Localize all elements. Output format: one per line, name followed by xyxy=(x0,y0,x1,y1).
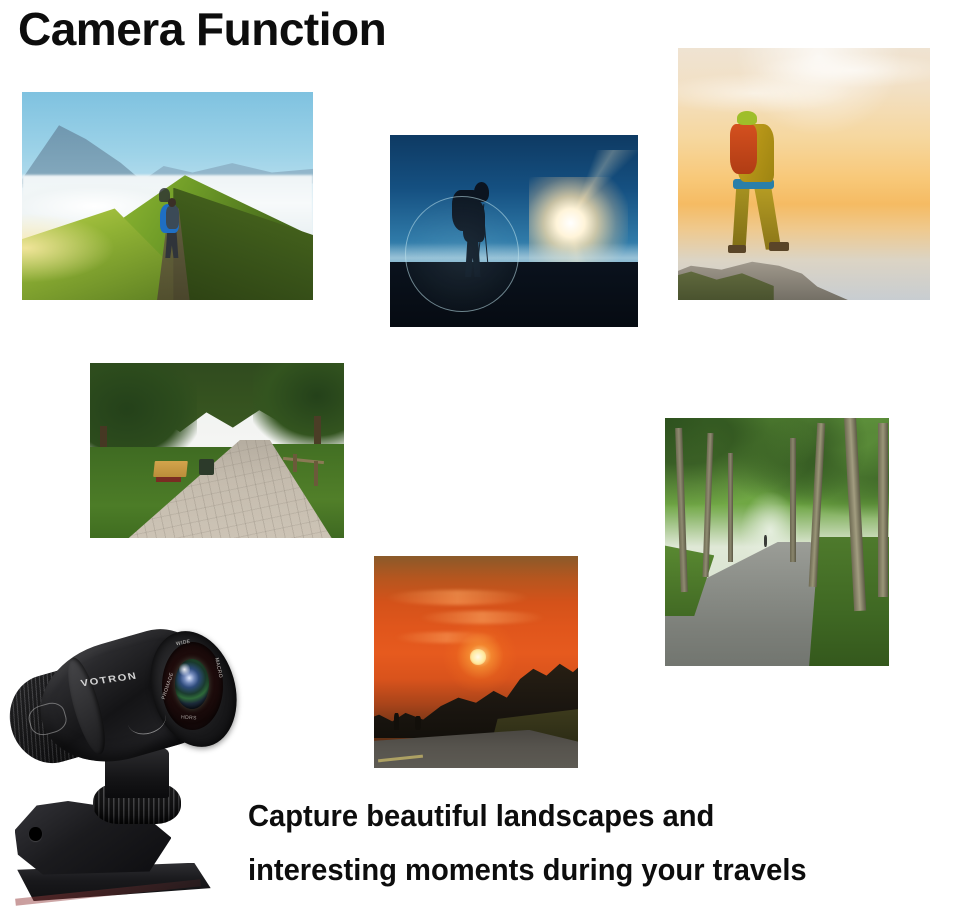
park-bench xyxy=(153,461,188,477)
photo-sunset-road xyxy=(374,556,578,768)
product-action-camera: VOTRON WIDE MACRO PROMADE HDRS xyxy=(0,615,245,910)
roadside-figure-2 xyxy=(415,716,421,730)
roadside-figure-1 xyxy=(394,713,398,730)
photo-tree-lined-road xyxy=(665,418,889,666)
scene-golden-hour-summit xyxy=(678,48,930,300)
trash-bin xyxy=(199,459,214,475)
photo-ridge-hiker xyxy=(22,92,313,300)
sun-glow xyxy=(738,48,899,134)
caption-line-2: interesting moments during your travels xyxy=(248,852,807,888)
scene-summit-sun xyxy=(390,135,638,327)
camera-bracket-screw-hole xyxy=(29,827,41,840)
cloud-streak-1 xyxy=(386,590,529,605)
lens-flare-ring xyxy=(405,196,519,311)
photo-park-path xyxy=(90,363,344,538)
hiker-backpack xyxy=(166,206,179,229)
climber-helmet xyxy=(737,111,757,125)
sun-glow xyxy=(22,213,115,284)
scene-ridge-hike xyxy=(22,92,313,300)
photo-sunset-climber xyxy=(678,48,930,300)
climber-boot-left xyxy=(728,245,746,254)
camera-lens-specular-highlight xyxy=(179,662,190,677)
tree-trunk-7 xyxy=(878,423,888,597)
distant-pedestrian xyxy=(764,535,768,547)
tree-canopy-right xyxy=(253,363,344,447)
fence-post-near xyxy=(314,461,318,486)
scene-park-walkway xyxy=(90,363,344,538)
climber-boot-right xyxy=(769,242,789,251)
page-title: Camera Function xyxy=(18,2,386,56)
scene-tree-avenue xyxy=(665,418,889,666)
caption-line-1: Capture beautiful landscapes and xyxy=(248,798,714,834)
climber-backpack xyxy=(730,124,758,174)
scene-orange-sunset xyxy=(374,556,578,768)
bench-legs xyxy=(156,477,181,482)
fence-post-far xyxy=(293,454,297,472)
product-infographic-page: Camera Function xyxy=(0,0,970,915)
photo-summit-silhouette xyxy=(390,135,638,327)
tree-trunk-4 xyxy=(790,438,795,562)
tree-trunk-3 xyxy=(728,453,733,562)
